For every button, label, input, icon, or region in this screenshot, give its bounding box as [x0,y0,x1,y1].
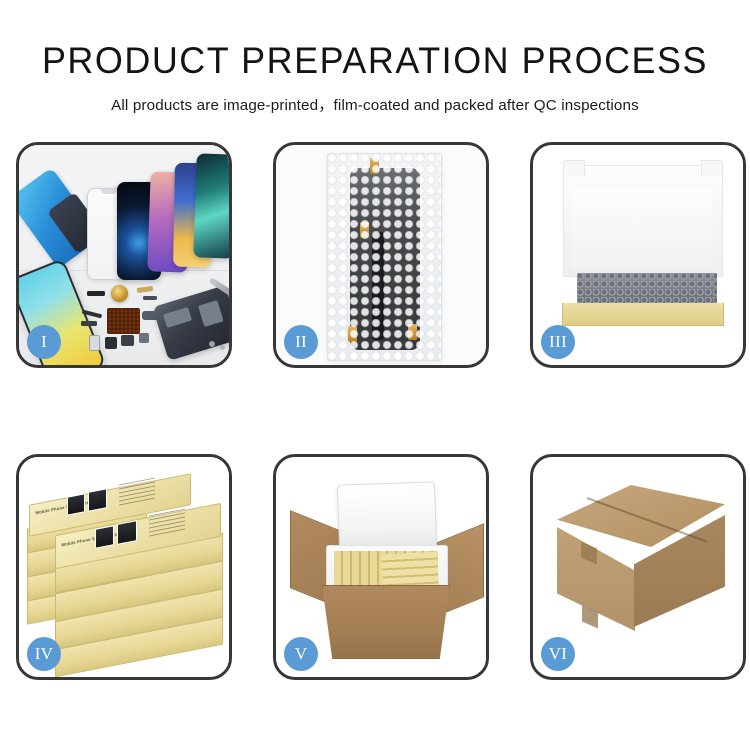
yellow-carton-front [562,303,724,326]
process-step-grid: I II III [16,142,746,680]
gold-tape-tab [408,324,417,340]
step-badge-2: II [284,325,318,359]
step-badge-5: V [284,637,318,671]
box-product-photo [117,520,137,545]
page-header: PRODUCT PREPARATION PROCESS All products… [0,0,750,115]
button-component [89,335,100,351]
wrapped-lcd-part [350,168,420,350]
process-step-panel-5[interactable]: V [273,454,489,680]
connector-component [81,321,97,326]
box-product-photo [95,525,114,549]
housing-detail [198,300,224,327]
circuit-board-component [107,308,140,334]
carton-body [322,585,450,659]
box-product-photo [88,488,107,512]
grey-bubble-wrap-layer [577,273,717,305]
screw-component [220,345,225,350]
gold-tape-tab [348,326,357,342]
vibrator-component [121,335,134,346]
bubble-wrap-bag [327,153,442,361]
flex-cable-component [143,296,157,300]
coil-component [111,285,128,302]
step-badge-3: III [541,325,575,359]
process-step-panel-6[interactable]: VI [530,454,746,680]
process-step-panel-3[interactable]: III [530,142,746,368]
process-step-panel-2[interactable]: II [273,142,489,368]
chip-component [87,291,105,296]
process-step-panel-1[interactable]: I [16,142,232,368]
wrapped-flex-cable [372,232,384,340]
step-badge-4: IV [27,637,61,671]
gold-tape-tab [370,158,379,174]
screw-component [209,341,215,347]
step-badge-1: I [27,325,61,359]
speaker-component [105,337,117,349]
white-foam-sheet [571,189,713,271]
process-step-panel-4[interactable]: Mobile Phone Spare Parts Mobile Phone Sp… [16,454,232,680]
phone-teal-screen [193,153,229,258]
foam-lid [337,481,437,552]
gold-tape-tab [360,222,369,238]
box-product-photo [67,493,85,515]
sim-tray-component [139,333,149,343]
step-badge-6: VI [541,637,575,671]
page-subtitle: All products are image-printed，film-coat… [0,81,750,115]
housing-detail [163,307,192,328]
page-title: PRODUCT PREPARATION PROCESS [11,0,739,81]
